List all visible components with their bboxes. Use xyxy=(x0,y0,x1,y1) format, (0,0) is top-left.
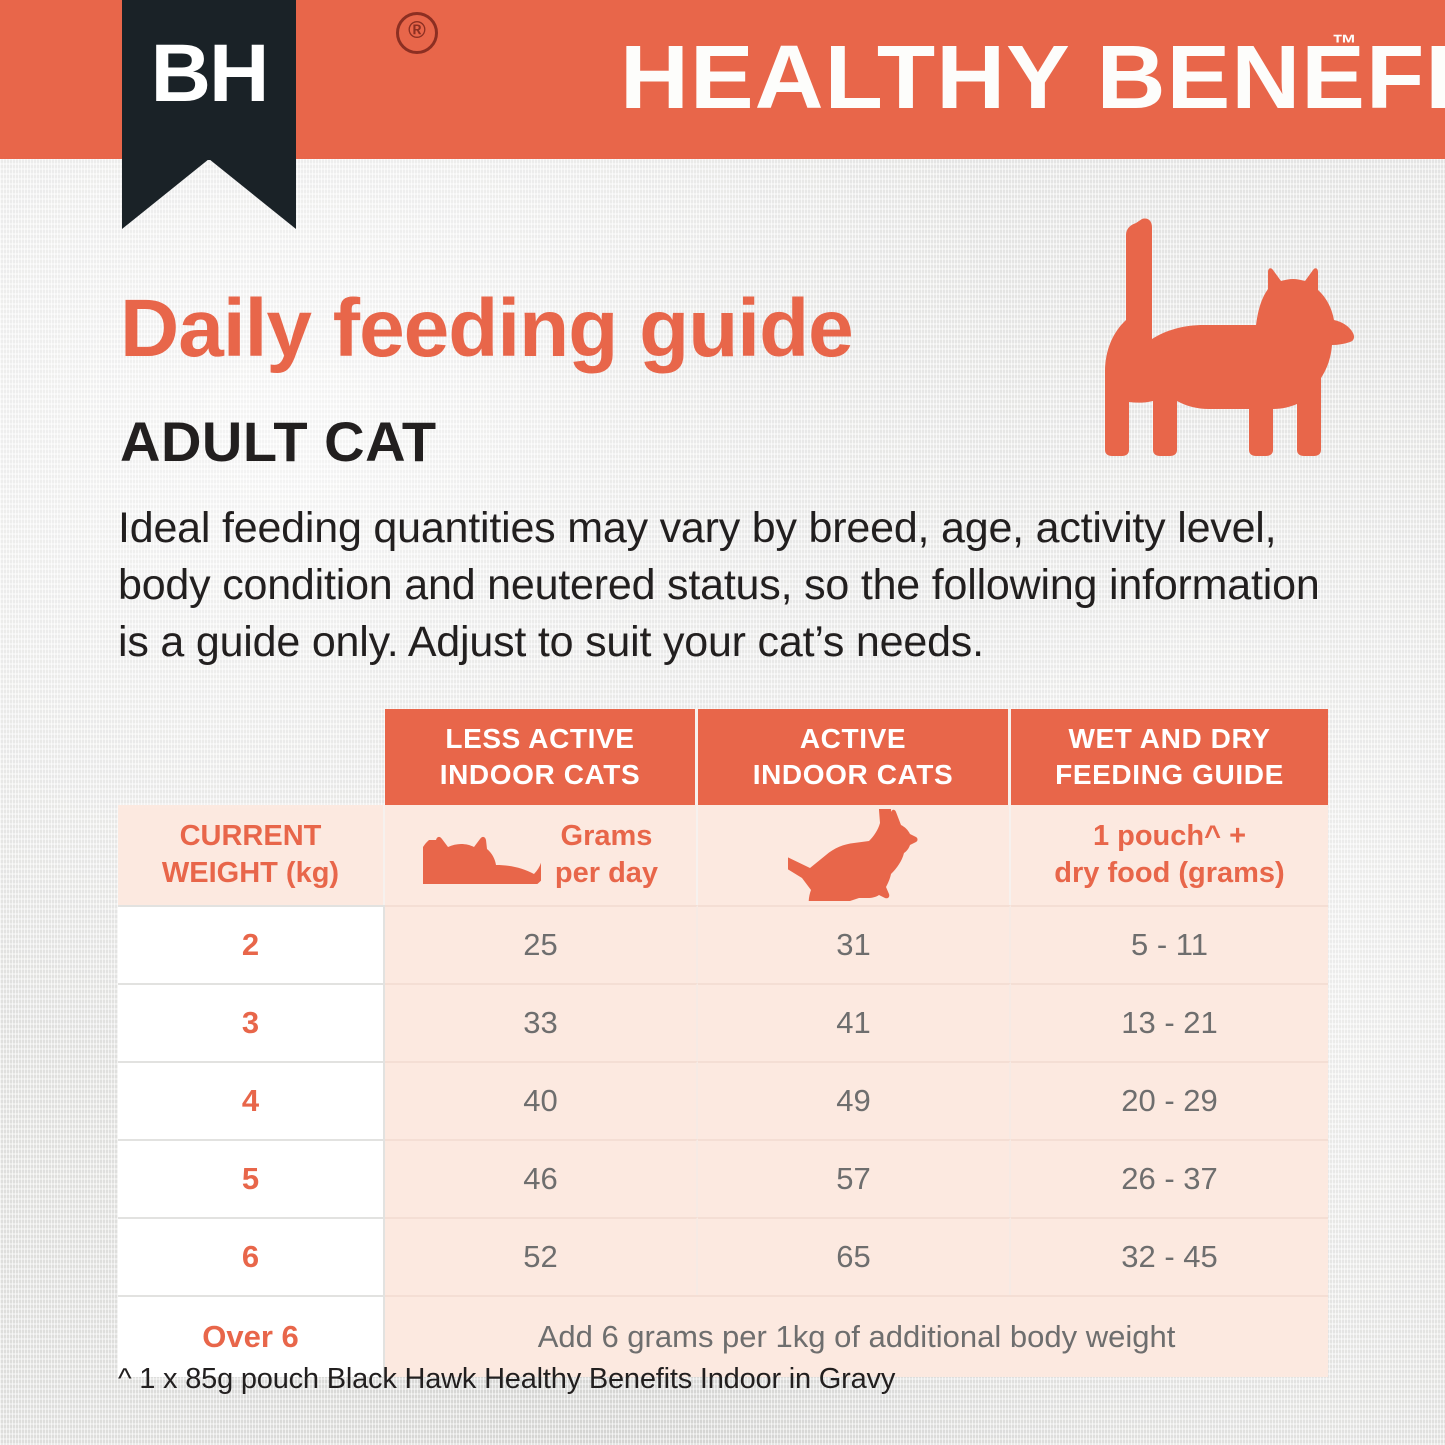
header-line-1: ACTIVE xyxy=(800,721,906,757)
table-row: 2 25 31 5 - 11 xyxy=(118,905,1328,983)
cell-active: 41 xyxy=(698,983,1011,1061)
table-row: 5 46 57 26 - 37 xyxy=(118,1139,1328,1217)
header-active-indoor-cats: ACTIVE INDOOR CATS xyxy=(698,709,1011,805)
table-row: 6 52 65 32 - 45 xyxy=(118,1217,1328,1295)
header-current-weight: CURRENT WEIGHT (kg) xyxy=(118,805,385,905)
page-title: Daily feeding guide xyxy=(120,283,853,375)
banner-title: HEALTHY BENEFITS xyxy=(620,26,1383,131)
cell-wet-dry: 26 - 37 xyxy=(1011,1139,1328,1217)
shield-point-icon xyxy=(122,159,296,229)
table-header-row-2: CURRENT WEIGHT (kg) Grams per day xyxy=(118,805,1328,905)
intro-paragraph: Ideal feeding quantities may vary by bre… xyxy=(118,500,1348,671)
cell-weight: 3 xyxy=(118,983,385,1061)
header-line-2: INDOOR CATS xyxy=(753,757,954,793)
cell-less-active: 25 xyxy=(385,905,698,983)
header-wet-and-dry-feeding-guide: WET AND DRY FEEDING GUIDE xyxy=(1011,709,1328,805)
header-line-1: WET AND DRY xyxy=(1068,721,1270,757)
current-weight-line-2: WEIGHT (kg) xyxy=(162,855,339,892)
table-header-row-1: LESS ACTIVE INDOOR CATS ACTIVE INDOOR CA… xyxy=(118,709,1328,805)
table-row: 4 40 49 20 - 29 xyxy=(118,1061,1328,1139)
cell-wet-dry: 13 - 21 xyxy=(1011,983,1328,1061)
cell-active: 65 xyxy=(698,1217,1011,1295)
header-line-2: INDOOR CATS xyxy=(440,757,641,793)
registered-trademark-icon: ® xyxy=(396,12,438,54)
cell-wet-dry: 20 - 29 xyxy=(1011,1061,1328,1139)
cell-weight: 4 xyxy=(118,1061,385,1139)
cell-weight: 5 xyxy=(118,1139,385,1217)
leaping-cat-icon xyxy=(788,809,920,901)
grams-per-day-line-2: per day xyxy=(555,855,658,892)
cell-weight: 2 xyxy=(118,905,385,983)
cell-less-active: 40 xyxy=(385,1061,698,1139)
footnote: ^ 1 x 85g pouch Black Hawk Healthy Benef… xyxy=(118,1363,895,1396)
pouch-line-2: dry food (grams) xyxy=(1054,855,1284,892)
cell-less-active: 46 xyxy=(385,1139,698,1217)
header-line-2: FEEDING GUIDE xyxy=(1055,757,1284,793)
page-background: HEALTHY BENEFITS ™ BH ® Daily feeding gu… xyxy=(0,0,1445,1445)
page-subtitle: ADULT CAT xyxy=(120,410,437,474)
standing-cat-icon xyxy=(1105,205,1355,480)
header-less-active-indoor-cats: LESS ACTIVE INDOOR CATS xyxy=(385,709,698,805)
lying-cat-icon xyxy=(423,826,541,884)
cell-active: 31 xyxy=(698,905,1011,983)
header-less-active-detail: Grams per day xyxy=(385,805,698,905)
header-wet-dry-detail: 1 pouch^ + dry food (grams) xyxy=(1011,805,1328,905)
cell-active: 57 xyxy=(698,1139,1011,1217)
pouch-line-1: 1 pouch^ + xyxy=(1054,818,1284,855)
trademark-icon: ™ xyxy=(1332,30,1357,59)
cell-wet-dry: 32 - 45 xyxy=(1011,1217,1328,1295)
cell-wet-dry: 5 - 11 xyxy=(1011,905,1328,983)
header-line-1: LESS ACTIVE xyxy=(445,721,634,757)
header-spacer xyxy=(118,709,385,805)
cell-less-active: 33 xyxy=(385,983,698,1061)
logo-text: BH xyxy=(120,28,297,120)
grams-per-day-line-1: Grams xyxy=(555,818,658,855)
cell-weight: 6 xyxy=(118,1217,385,1295)
current-weight-line-1: CURRENT xyxy=(162,818,339,855)
brand-logo: BH xyxy=(122,0,296,228)
cell-less-active: 52 xyxy=(385,1217,698,1295)
table-row: 3 33 41 13 - 21 xyxy=(118,983,1328,1061)
header-active-detail xyxy=(698,805,1011,905)
feeding-guide-table: LESS ACTIVE INDOOR CATS ACTIVE INDOOR CA… xyxy=(118,709,1328,1377)
cell-active: 49 xyxy=(698,1061,1011,1139)
